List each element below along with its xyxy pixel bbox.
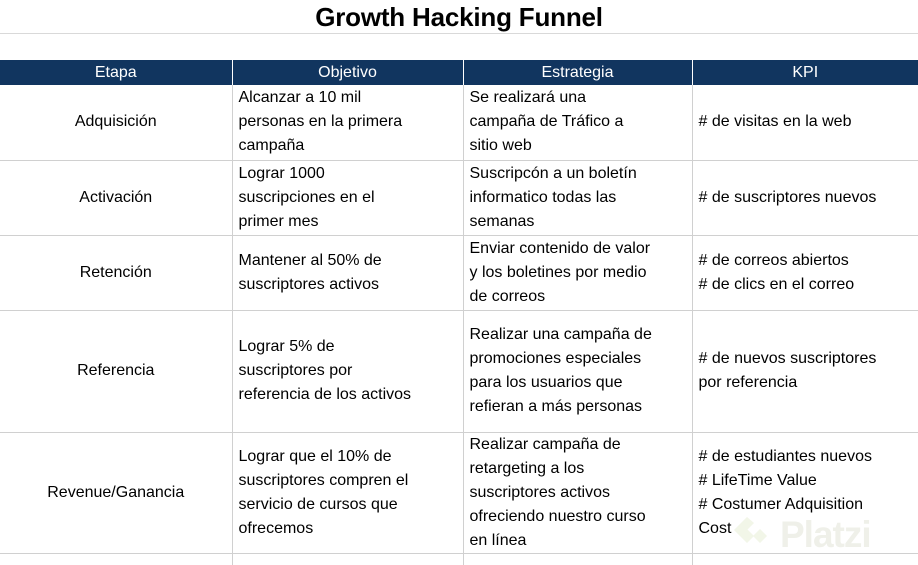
cell-estrategia[interactable]: Suscripcón a un boletín informatico toda… — [463, 160, 692, 235]
cell-etapa[interactable]: Activación — [0, 160, 232, 235]
cell-etapa[interactable]: Revenue/Ganancia — [0, 432, 232, 553]
cell-kpi[interactable]: # de correos abiertos # de clics en el c… — [692, 235, 918, 310]
table-row: Retención Mantener al 50% de suscriptore… — [0, 235, 918, 310]
cell-objetivo[interactable]: Lograr 5% de suscriptores por referencia… — [232, 310, 463, 432]
table-row: Activación Lograr 1000 suscripciones en … — [0, 160, 918, 235]
table-header-row: Etapa Objetivo Estrategia KPI — [0, 60, 918, 85]
cell-etapa[interactable]: Retención — [0, 235, 232, 310]
cell-kpi[interactable]: # de visitas en la web — [692, 85, 918, 160]
cell-objetivo[interactable]: Mantener al 50% de suscriptores activos — [232, 235, 463, 310]
cell-etapa[interactable] — [0, 553, 232, 565]
cell-objetivo[interactable]: Alcanzar a 10 mil personas en la primera… — [232, 85, 463, 160]
column-header-kpi[interactable]: KPI — [692, 60, 918, 85]
cell-estrategia[interactable]: Enviar contenido de valor y los boletine… — [463, 235, 692, 310]
table-row-empty — [0, 553, 918, 565]
cell-objetivo[interactable] — [232, 553, 463, 565]
cell-estrategia[interactable]: Realizar campaña de retargeting a los su… — [463, 432, 692, 553]
cell-kpi[interactable]: # de suscriptores nuevos — [692, 160, 918, 235]
cell-etapa[interactable]: Adquisición — [0, 85, 232, 160]
cell-estrategia[interactable]: Se realizará una campaña de Tráfico a si… — [463, 85, 692, 160]
growth-hacking-funnel-table: Etapa Objetivo Estrategia KPI Adquisició… — [0, 60, 918, 565]
cell-kpi[interactable]: # de estudiantes nuevos # LifeTime Value… — [692, 432, 918, 553]
column-header-estrategia[interactable]: Estrategia — [463, 60, 692, 85]
column-header-etapa[interactable]: Etapa — [0, 60, 232, 85]
cell-estrategia[interactable] — [463, 553, 692, 565]
column-header-objetivo[interactable]: Objetivo — [232, 60, 463, 85]
page-title-container: Growth Hacking Funnel — [0, 0, 918, 33]
cell-objetivo[interactable]: Lograr 1000 suscripciones en el primer m… — [232, 160, 463, 235]
spreadsheet-page: Growth Hacking Funnel Platzi Etapa Objet… — [0, 0, 918, 565]
cell-estrategia[interactable]: Realizar una campaña de promociones espe… — [463, 310, 692, 432]
cell-kpi[interactable] — [692, 553, 918, 565]
table-row: Referencia Lograr 5% de suscriptores por… — [0, 310, 918, 432]
table-row: Adquisición Alcanzar a 10 mil personas e… — [0, 85, 918, 160]
page-title: Growth Hacking Funnel — [315, 4, 603, 30]
cell-etapa[interactable]: Referencia — [0, 310, 232, 432]
table-row: Revenue/Ganancia Lograr que el 10% de su… — [0, 432, 918, 553]
cell-objetivo[interactable]: Lograr que el 10% de suscriptores compre… — [232, 432, 463, 553]
cell-kpi[interactable]: # de nuevos suscriptores por referencia — [692, 310, 918, 432]
title-divider — [0, 33, 918, 34]
